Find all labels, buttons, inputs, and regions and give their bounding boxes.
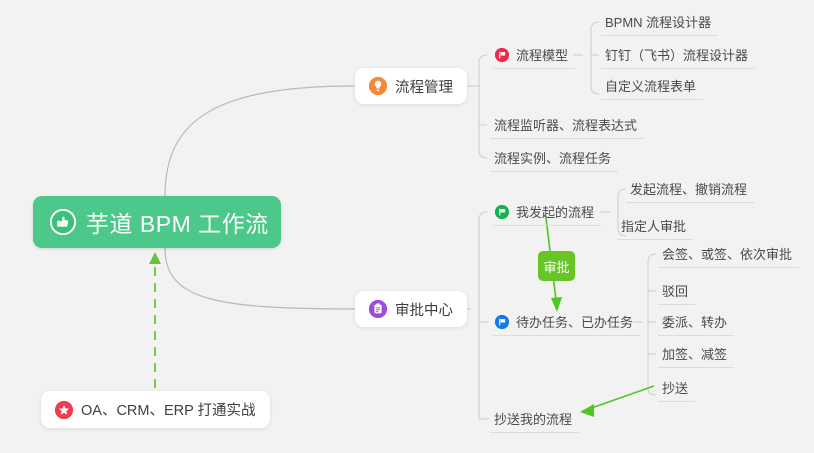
node-label: 抄送 [662, 378, 688, 397]
bottom-note-label: OA、CRM、ERP 打通实战 [81, 399, 256, 420]
node-label: 自定义流程表单 [605, 76, 696, 95]
node-delegate-transfer[interactable]: 委派、转办 [658, 308, 734, 336]
node-countersign-orsign-sequential[interactable]: 会签、或签、依次审批 [658, 240, 799, 268]
node-label: 发起流程、撤销流程 [630, 179, 747, 198]
node-bpmn-designer[interactable]: BPMN 流程设计器 [601, 8, 718, 36]
mindmap-canvas: 芋道 BPM 工作流 流程管理 流程模型 流程监听器、流程表达式 流程实例、流程… [0, 0, 814, 453]
node-reject[interactable]: 驳回 [658, 277, 695, 305]
approval-tag-label: 审批 [543, 257, 569, 276]
root-label: 芋道 BPM 工作流 [86, 205, 269, 239]
node-add-remove-sign[interactable]: 加签、减签 [658, 340, 734, 368]
bottom-note[interactable]: OA、CRM、ERP 打通实战 [41, 391, 270, 428]
arrow-cc-to-ccme [580, 386, 654, 417]
clipboard-icon [369, 300, 387, 318]
node-assignee-approval[interactable]: 指定人审批 [617, 212, 693, 240]
node-process-model[interactable]: 流程模型 [493, 41, 575, 69]
link-pm-to-instance [479, 150, 487, 158]
node-my-initiated[interactable]: 我发起的流程 [493, 198, 601, 226]
node-label: 钉钉（飞书）流程设计器 [605, 45, 748, 64]
branch-label: 流程管理 [395, 76, 453, 97]
node-instance-task[interactable]: 流程实例、流程任务 [490, 144, 618, 172]
link-pm-to-model [479, 55, 487, 63]
node-label: 加签、减签 [662, 344, 727, 363]
node-start-cancel-process[interactable]: 发起流程、撤销流程 [626, 175, 754, 203]
node-label: 会签、或签、依次审批 [662, 244, 792, 263]
branch-label: 审批中心 [395, 299, 453, 320]
node-label: 抄送我的流程 [494, 409, 572, 428]
star-icon [55, 401, 73, 419]
node-label: 我发起的流程 [516, 202, 594, 221]
node-label: 待办任务、已办任务 [516, 312, 633, 331]
branch-approval-center[interactable]: 审批中心 [355, 291, 467, 327]
node-custom-process-form[interactable]: 自定义流程表单 [601, 72, 703, 100]
node-label: 委派、转办 [662, 312, 727, 331]
node-label: 流程模型 [516, 45, 568, 64]
lightbulb-icon [369, 77, 387, 95]
flag-icon-blue [495, 315, 509, 329]
link-root-process-management [165, 86, 355, 196]
flag-icon-green [495, 205, 509, 219]
root-node[interactable]: 芋道 BPM 工作流 [33, 196, 281, 248]
node-label: 指定人审批 [621, 216, 686, 235]
link-init-to-start [618, 189, 626, 197]
node-cc-to-me[interactable]: 抄送我的流程 [490, 405, 579, 433]
branch-process-management[interactable]: 流程管理 [355, 68, 467, 104]
approval-tag[interactable]: 审批 [538, 251, 575, 281]
node-listener-expression[interactable]: 流程监听器、流程表达式 [490, 111, 644, 139]
link-todo-to-cc [648, 388, 656, 395]
thumbs-up-icon [50, 209, 76, 235]
arrow-bottom-note-to-root [149, 252, 161, 388]
node-todo-done-tasks[interactable]: 待办任务、已办任务 [493, 308, 640, 336]
node-label: BPMN 流程设计器 [605, 12, 711, 31]
flag-icon-red [495, 48, 509, 62]
link-ac-to-initiated [479, 212, 487, 220]
link-todo-to-countersign [648, 254, 656, 262]
link-model-to-custom [591, 86, 599, 94]
node-label: 驳回 [662, 281, 688, 300]
node-dingtalk-feishu-designer[interactable]: 钉钉（飞书）流程设计器 [601, 41, 755, 69]
node-label: 流程监听器、流程表达式 [494, 115, 637, 134]
link-root-approval-center [165, 248, 355, 309]
node-cc[interactable]: 抄送 [658, 374, 695, 402]
node-label: 流程实例、流程任务 [494, 148, 611, 167]
link-model-to-bpmn [591, 22, 599, 30]
